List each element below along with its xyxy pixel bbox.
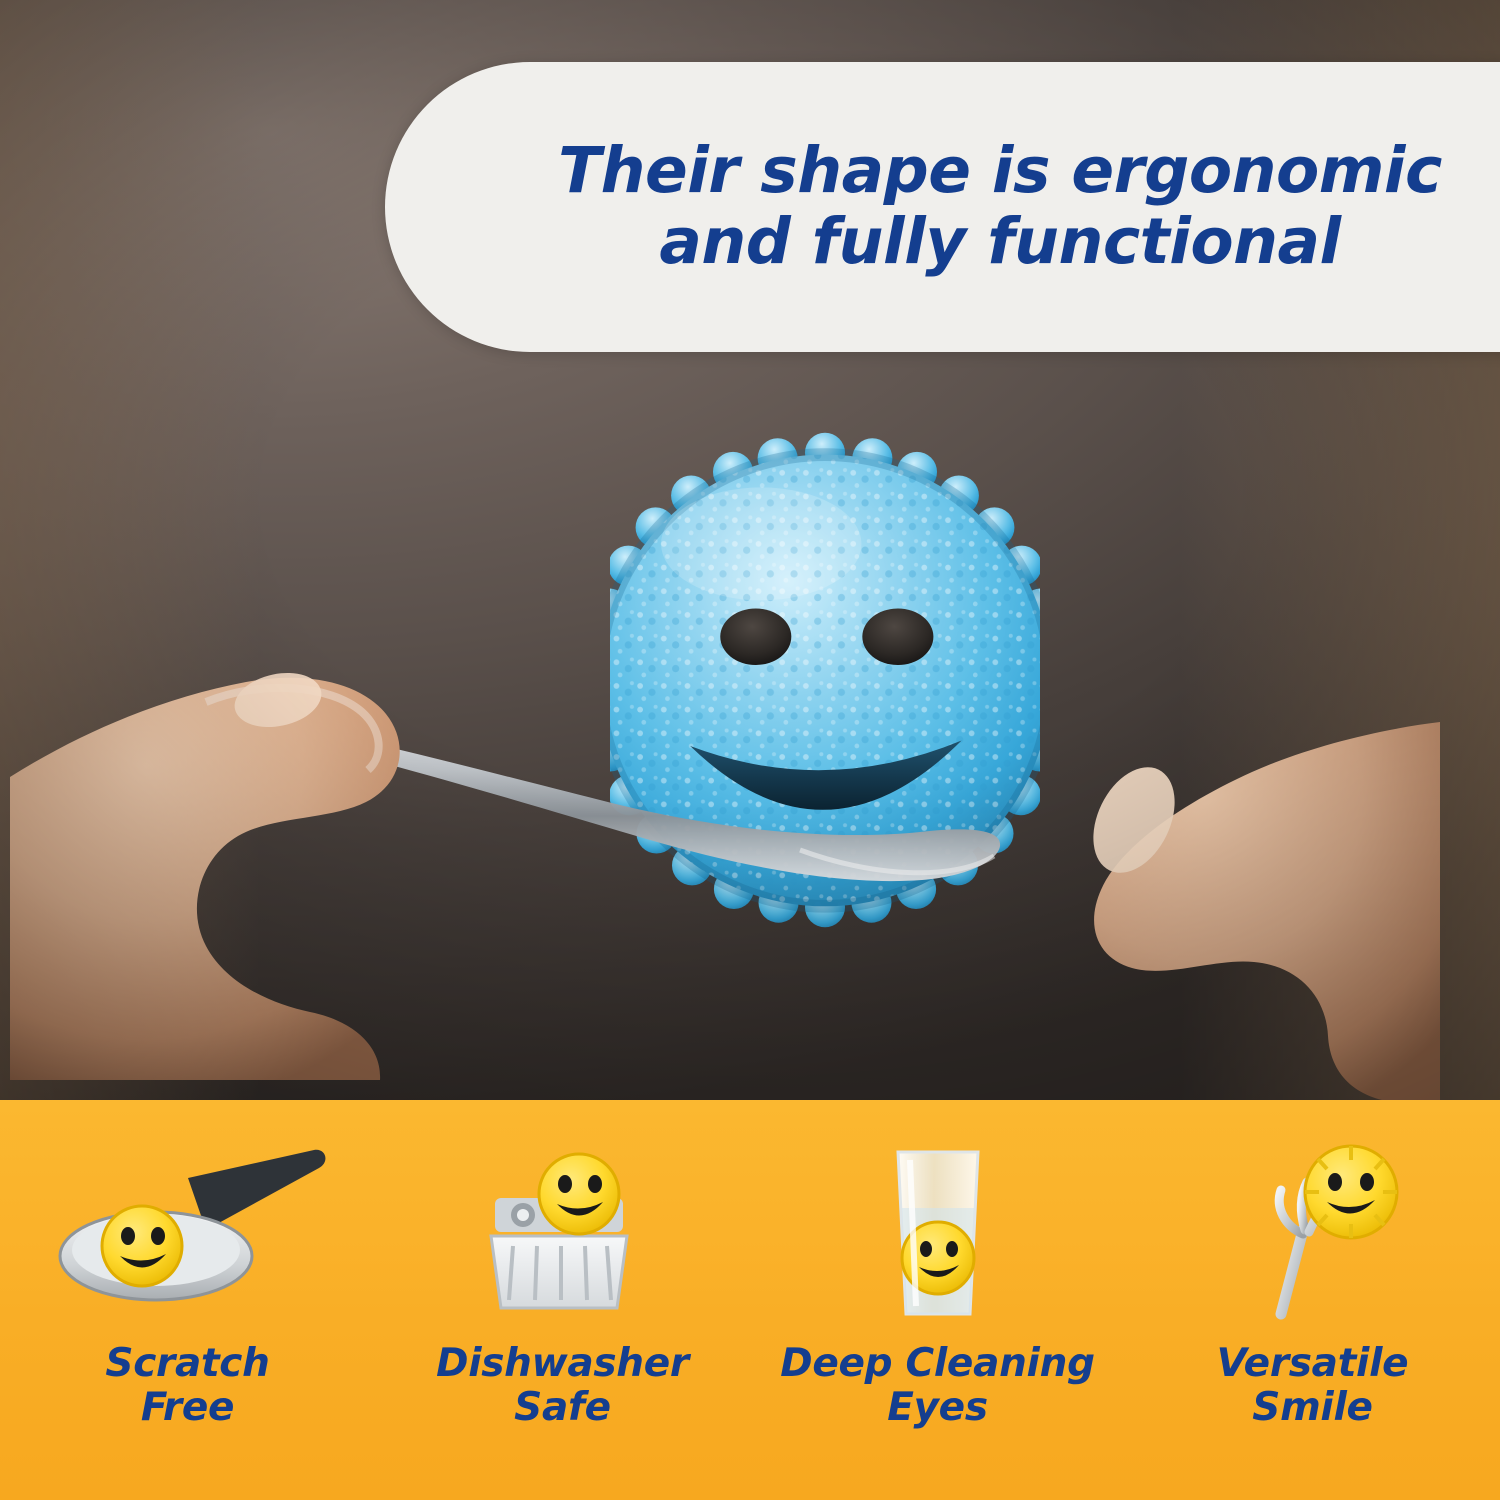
- feature-label-line2: Smile: [1252, 1385, 1372, 1430]
- feature-label-line2: Safe: [514, 1385, 611, 1430]
- page-title: Their shape is ergonomic and fully funct…: [495, 136, 1500, 277]
- feature-label: Scratch Free: [105, 1342, 269, 1429]
- feature-label: Dishwasher Safe: [436, 1342, 689, 1429]
- feature-label-line1: Scratch: [105, 1341, 269, 1386]
- pan-with-sponge-icon: [0, 1138, 375, 1328]
- feature-dishwasher-safe: Dishwasher Safe: [375, 1100, 750, 1500]
- glass-with-sponge-icon: [750, 1138, 1125, 1328]
- fork-with-sponge-icon: [1125, 1138, 1500, 1328]
- feature-deep-cleaning-eyes: Deep Cleaning Eyes: [750, 1100, 1125, 1500]
- feature-label-line1: Deep Cleaning: [780, 1341, 1094, 1386]
- feature-label-line1: Versatile: [1217, 1341, 1409, 1386]
- feature-scratch-free: Scratch Free: [0, 1100, 375, 1500]
- feature-versatile-smile: Versatile Smile: [1125, 1100, 1500, 1500]
- sponge-smiley: [539, 1154, 619, 1234]
- feature-label: Versatile Smile: [1217, 1342, 1409, 1429]
- feature-label-line1: Dishwasher: [436, 1341, 689, 1386]
- feature-label: Deep Cleaning Eyes: [780, 1342, 1094, 1429]
- product-infographic: Their shape is ergonomic and fully funct…: [0, 0, 1500, 1500]
- headline-banner: Their shape is ergonomic and fully funct…: [385, 62, 1500, 352]
- sponge-smiley: [102, 1206, 182, 1286]
- dishwasher-icon: [375, 1138, 750, 1328]
- feature-label-line2: Eyes: [887, 1385, 988, 1430]
- feature-label-line2: Free: [141, 1385, 234, 1430]
- feature-bar: Scratch Free: [0, 1100, 1500, 1500]
- sponge-smiley: [1305, 1146, 1397, 1238]
